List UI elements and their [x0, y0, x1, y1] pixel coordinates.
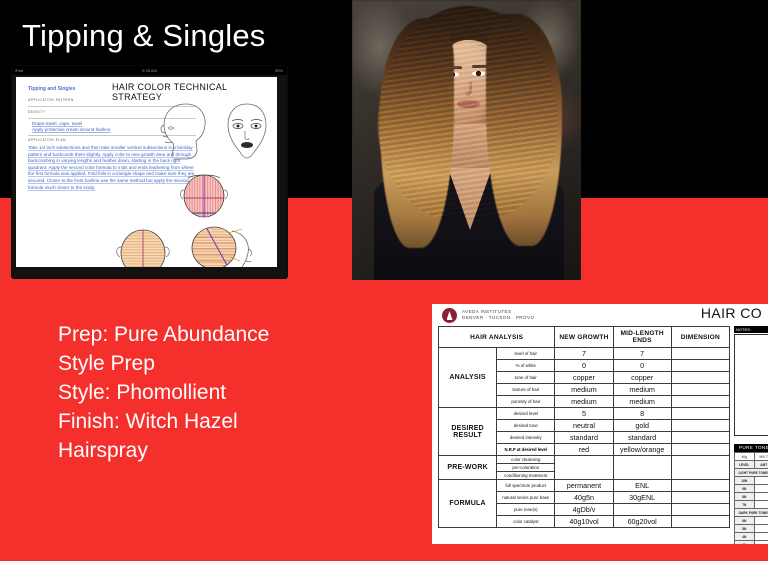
cell-mid-ends: yellow/orange	[613, 444, 671, 456]
row-label: color catalyst	[497, 516, 555, 528]
table-row: 40g MIX T	[735, 453, 768, 461]
caption-line-3: Style: Phomollient	[58, 378, 358, 407]
pure-tone-section-2: DARK PURE TONES	[735, 509, 768, 517]
table-row: 5N	[735, 525, 768, 533]
cell-new-growth: standard	[555, 432, 613, 444]
head-back-pattern-diagram-2	[112, 227, 174, 267]
cell-dimension	[671, 348, 729, 360]
cell-new-growth: medium	[555, 396, 613, 408]
row-label: N.R.P at desired level	[497, 444, 555, 456]
table-row: PRE-WORK color cleansing	[439, 456, 730, 464]
row-label: full spectrum product	[497, 480, 555, 492]
cell-mid-ends: 0	[613, 360, 671, 372]
row-label: porosity of hair	[497, 396, 555, 408]
cell-new-growth: red	[555, 444, 613, 456]
cell-dimension	[671, 432, 729, 444]
cell-mid-ends	[613, 504, 671, 516]
table-row: 8N	[735, 493, 768, 501]
ipad-status-bar: iPad 9:35 AM 95%	[12, 66, 287, 75]
notes-label: NOTES:	[734, 326, 768, 333]
caption-line-4: Finish: Witch Hazel	[58, 407, 358, 436]
head-back-pattern-diagram-1	[176, 172, 232, 222]
table-row: ANALYSIS level of hair 7 7	[439, 348, 730, 360]
row-label: desired tone	[497, 420, 555, 432]
cell-mid-ends: 60g20vol	[613, 516, 671, 528]
pure-tone-panel: PURE TONE 40g MIX T LEVEL AMT LIGHT PURE…	[734, 444, 768, 544]
pure-tone-level: 8N	[735, 493, 755, 501]
pure-tone-col-2: AMT	[754, 461, 768, 469]
table-row: LIGHT PURE TONES	[735, 469, 768, 477]
row-label: natural series pure base	[497, 492, 555, 504]
cell-mid-ends: medium	[613, 384, 671, 396]
ipad-screenshot: iPad 9:35 AM 95% Tipping and Singles HAI…	[12, 66, 287, 278]
cell-new-growth: 7	[555, 348, 613, 360]
pure-tone-amt	[754, 533, 768, 541]
pure-tone-amt	[754, 477, 768, 485]
doc-section-application-plan: APPLICATION PLAN	[28, 138, 66, 142]
pure-tone-col-1: LEVEL	[735, 461, 755, 469]
caption-line-1: Prep: Pure Abundance	[58, 320, 358, 349]
cell-mid-ends: 30gENL	[613, 492, 671, 504]
pure-tone-amt	[754, 501, 768, 509]
aveda-brand-text: AVEDA INSTITUTES DENVER · TUCSON · PROVO	[462, 309, 534, 321]
cell-new-growth: permanent	[555, 480, 613, 492]
table-row: DESIRED RESULT desired level 5 8	[439, 408, 730, 420]
pure-tone-sub-right: MIX T	[754, 453, 768, 461]
pure-tone-table: 40g MIX T LEVEL AMT LIGHT PURE TONES 10N…	[734, 452, 768, 544]
group-pre-work: PRE-WORK	[439, 456, 497, 480]
pure-tone-level: 4N	[735, 533, 755, 541]
pure-tone-amt	[754, 517, 768, 525]
pure-tone-amt	[754, 541, 768, 545]
cell-mid-ends: copper	[613, 372, 671, 384]
row-label: texture of hair	[497, 384, 555, 396]
table-row: 3N	[735, 541, 768, 545]
head-profile-diagram	[156, 101, 212, 163]
col-mid-length-ends: MID-LENGTH ENDS	[613, 327, 671, 348]
pure-tone-level: 6N	[735, 517, 755, 525]
aveda-logo-icon	[442, 308, 457, 323]
pure-tone-section-1: LIGHT PURE TONES	[735, 469, 768, 477]
doc-header-title: HAIR COLOR TECHNICAL STRATEGY	[112, 82, 277, 102]
cell-dimension	[671, 504, 729, 516]
table-row: 9N	[735, 485, 768, 493]
pure-tone-amt	[754, 485, 768, 493]
cell-dimension	[671, 384, 729, 396]
pure-tone-amt	[754, 525, 768, 533]
cell-dimension	[671, 516, 729, 528]
doc-draping-line-2: Apply protective cream around hairline	[32, 127, 110, 133]
pure-tone-level: 9N	[735, 485, 755, 493]
caption-line-2: Style Prep	[58, 349, 358, 378]
table-header-row: HAIR ANALYSIS NEW GROWTH MID-LENGTH ENDS…	[439, 327, 730, 348]
cell-new-growth: copper	[555, 372, 613, 384]
cell-new-growth: medium	[555, 384, 613, 396]
table-row: 4N	[735, 533, 768, 541]
cell-mid-ends: gold	[613, 420, 671, 432]
table-row: FORMULA full spectrum product permanent …	[439, 480, 730, 492]
cell-new-growth: 0	[555, 360, 613, 372]
pure-tone-level: 10N	[735, 477, 755, 485]
hair-analysis-table: HAIR ANALYSIS NEW GROWTH MID-LENGTH ENDS…	[438, 326, 730, 528]
cell-new-growth: 40g5n	[555, 492, 613, 504]
cell-dimension	[671, 372, 729, 384]
slide-canvas: Tipping & Singles iPad 9:35 AM 95% Tippi…	[0, 0, 768, 561]
cell-dimension	[671, 420, 729, 432]
doc-section-application-pattern: APPLICATION PATTERN	[28, 98, 74, 102]
pure-tone-level: 7N	[735, 501, 755, 509]
row-label: color cleansing	[497, 456, 555, 464]
worksheet-title: HAIR CO	[701, 305, 762, 321]
table-row: 6N	[735, 517, 768, 525]
col-new-growth: NEW GROWTH	[555, 327, 613, 348]
row-label: desired intensity	[497, 432, 555, 444]
status-clock: 9:35 AM	[12, 66, 287, 75]
col-hair-analysis: HAIR ANALYSIS	[439, 327, 555, 348]
row-label: conditioning treatment	[497, 472, 555, 480]
brand-line-2: DENVER · TUCSON · PROVO	[462, 315, 534, 321]
model-portrait-photo	[352, 0, 581, 280]
cell-dimension	[671, 360, 729, 372]
table-row: LEVEL AMT	[735, 461, 768, 469]
cell-mid-ends: medium	[613, 396, 671, 408]
doc-header-left: Tipping and Singles	[28, 86, 75, 92]
worksheet-header: AVEDA INSTITUTES DENVER · TUCSON · PROVO…	[432, 304, 768, 326]
cell-dimension	[671, 408, 729, 420]
table-row: 7N	[735, 501, 768, 509]
cell-dimension	[671, 480, 729, 492]
cell-dimension	[671, 396, 729, 408]
row-label: % of white	[497, 360, 555, 372]
row-label: pure tone(s)	[497, 504, 555, 516]
page-title: Tipping & Singles	[22, 18, 266, 54]
cell-new-growth: neutral	[555, 420, 613, 432]
pure-tone-amt	[754, 493, 768, 501]
group-analysis: ANALYSIS	[439, 348, 497, 408]
product-caption: Prep: Pure Abundance Style Prep Style: P…	[58, 320, 358, 465]
cell-mid-ends: ENL	[613, 480, 671, 492]
table-row: 10N	[735, 477, 768, 485]
cell-mid-ends: standard	[613, 432, 671, 444]
pure-tone-level: 3N	[735, 541, 755, 545]
row-label: tone of hair	[497, 372, 555, 384]
cell-new-growth: 5	[555, 408, 613, 420]
group-formula: FORMULA	[439, 480, 497, 528]
status-battery: 95%	[275, 66, 283, 75]
cell-new-growth	[555, 456, 613, 480]
cell-dimension	[671, 456, 729, 480]
pure-tone-level: 5N	[735, 525, 755, 533]
head-side-pattern-diagram	[184, 223, 260, 267]
cell-new-growth: 40g10vol	[555, 516, 613, 528]
table-row: DARK PURE TONES	[735, 509, 768, 517]
ipad-document-page: Tipping and Singles HAIR COLOR TECHNICAL…	[16, 77, 277, 267]
pure-tone-sub-left: 40g	[735, 453, 755, 461]
notes-box	[734, 334, 768, 436]
cell-mid-ends: 8	[613, 408, 671, 420]
cell-mid-ends: 7	[613, 348, 671, 360]
cell-dimension	[671, 444, 729, 456]
caption-line-5: Hairspray	[58, 436, 358, 465]
doc-section-density: DENSITY	[28, 110, 45, 114]
row-label: pre-coloration	[497, 464, 555, 472]
col-dimension: DIMENSION	[671, 327, 729, 348]
hair-color-worksheet: AVEDA INSTITUTES DENVER · TUCSON · PROVO…	[432, 304, 768, 544]
cell-dimension	[671, 492, 729, 504]
row-label: desired level	[497, 408, 555, 420]
group-desired-result: DESIRED RESULT	[439, 408, 497, 456]
cell-mid-ends	[613, 456, 671, 480]
cell-new-growth: 4gDb/v	[555, 504, 613, 516]
pure-tone-header: PURE TONE	[734, 444, 768, 452]
row-label: level of hair	[497, 348, 555, 360]
head-front-diagram	[221, 101, 273, 163]
